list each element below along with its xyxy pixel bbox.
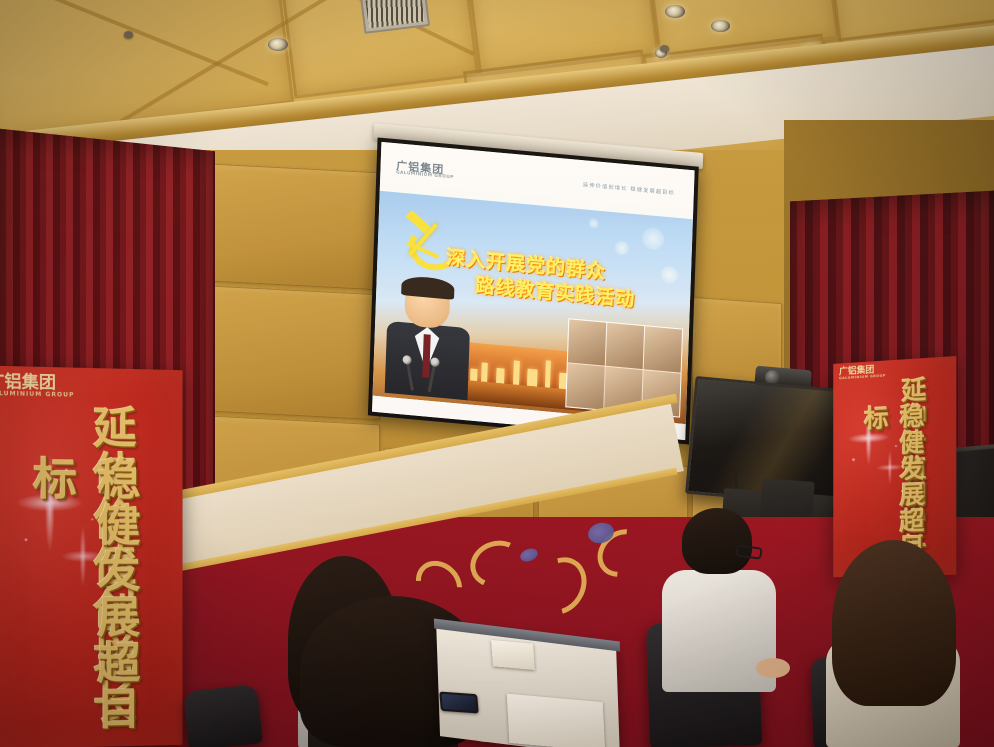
wall-panel [212,286,380,421]
smartphone[interactable] [439,692,479,714]
bokeh-light [642,227,665,251]
ceiling-downlight-icon [665,5,685,18]
slide-company-logo: 广铝集团 GALUMINIUM GROUP [396,160,454,181]
bokeh-light [588,218,598,229]
ceiling-downlight-icon [711,20,730,32]
attendee-4-hair [832,540,956,706]
table-paper [491,640,535,670]
attendee-3-hair [682,508,752,574]
attendee-3 [660,508,790,688]
meeting-photo [568,320,606,366]
conference-room-photo: 广铝集团 GALUMINIUM GROUP 延伸价值创增长 稳健发展超目标 [0,0,994,747]
banner-logo-en: GALUMINIUM GROUP [839,375,886,381]
banner-left-line-2: 稳健发展超目标 [18,455,146,747]
ceiling-sensor-icon [660,45,669,52]
wall-panel [212,164,380,291]
banner-logo-left: 广铝集团 GALUMINIUM GROUP [0,374,74,399]
slide-header-slogan: 延伸价值创增长 稳健发展超目标 [583,181,675,196]
banner-logo-right: 广铝集团 GALUMINIUM GROUP [839,366,886,381]
chair-left[interactable] [183,684,263,747]
meeting-photo [605,323,643,369]
ceiling-sensor-icon [124,31,133,38]
slide-title: 深入开展党的群众 路线教育实践活动 [445,246,679,318]
speaker-photo [379,273,477,400]
ceiling-downlight-icon [268,38,288,51]
banner-left: 广铝集团 GALUMINIUM GROUP 延伸价值创增长 稳健发展超目标 [0,366,183,747]
carpet-scroll-motif [464,534,530,594]
bokeh-light [615,241,629,256]
attendee-3-hand [756,658,790,678]
slide-body: 深入开展党的群众 路线教育实践活动 [373,190,693,424]
banner-logo-en: GALUMINIUM GROUP [0,391,74,399]
attendee-4 [818,540,978,747]
open-notebook-front [507,694,605,747]
meeting-photo [643,327,681,373]
presentation-slide: 广铝集团 GALUMINIUM GROUP 延伸价值创增长 稳健发展超目标 [372,142,695,440]
meeting-photo [566,363,604,409]
